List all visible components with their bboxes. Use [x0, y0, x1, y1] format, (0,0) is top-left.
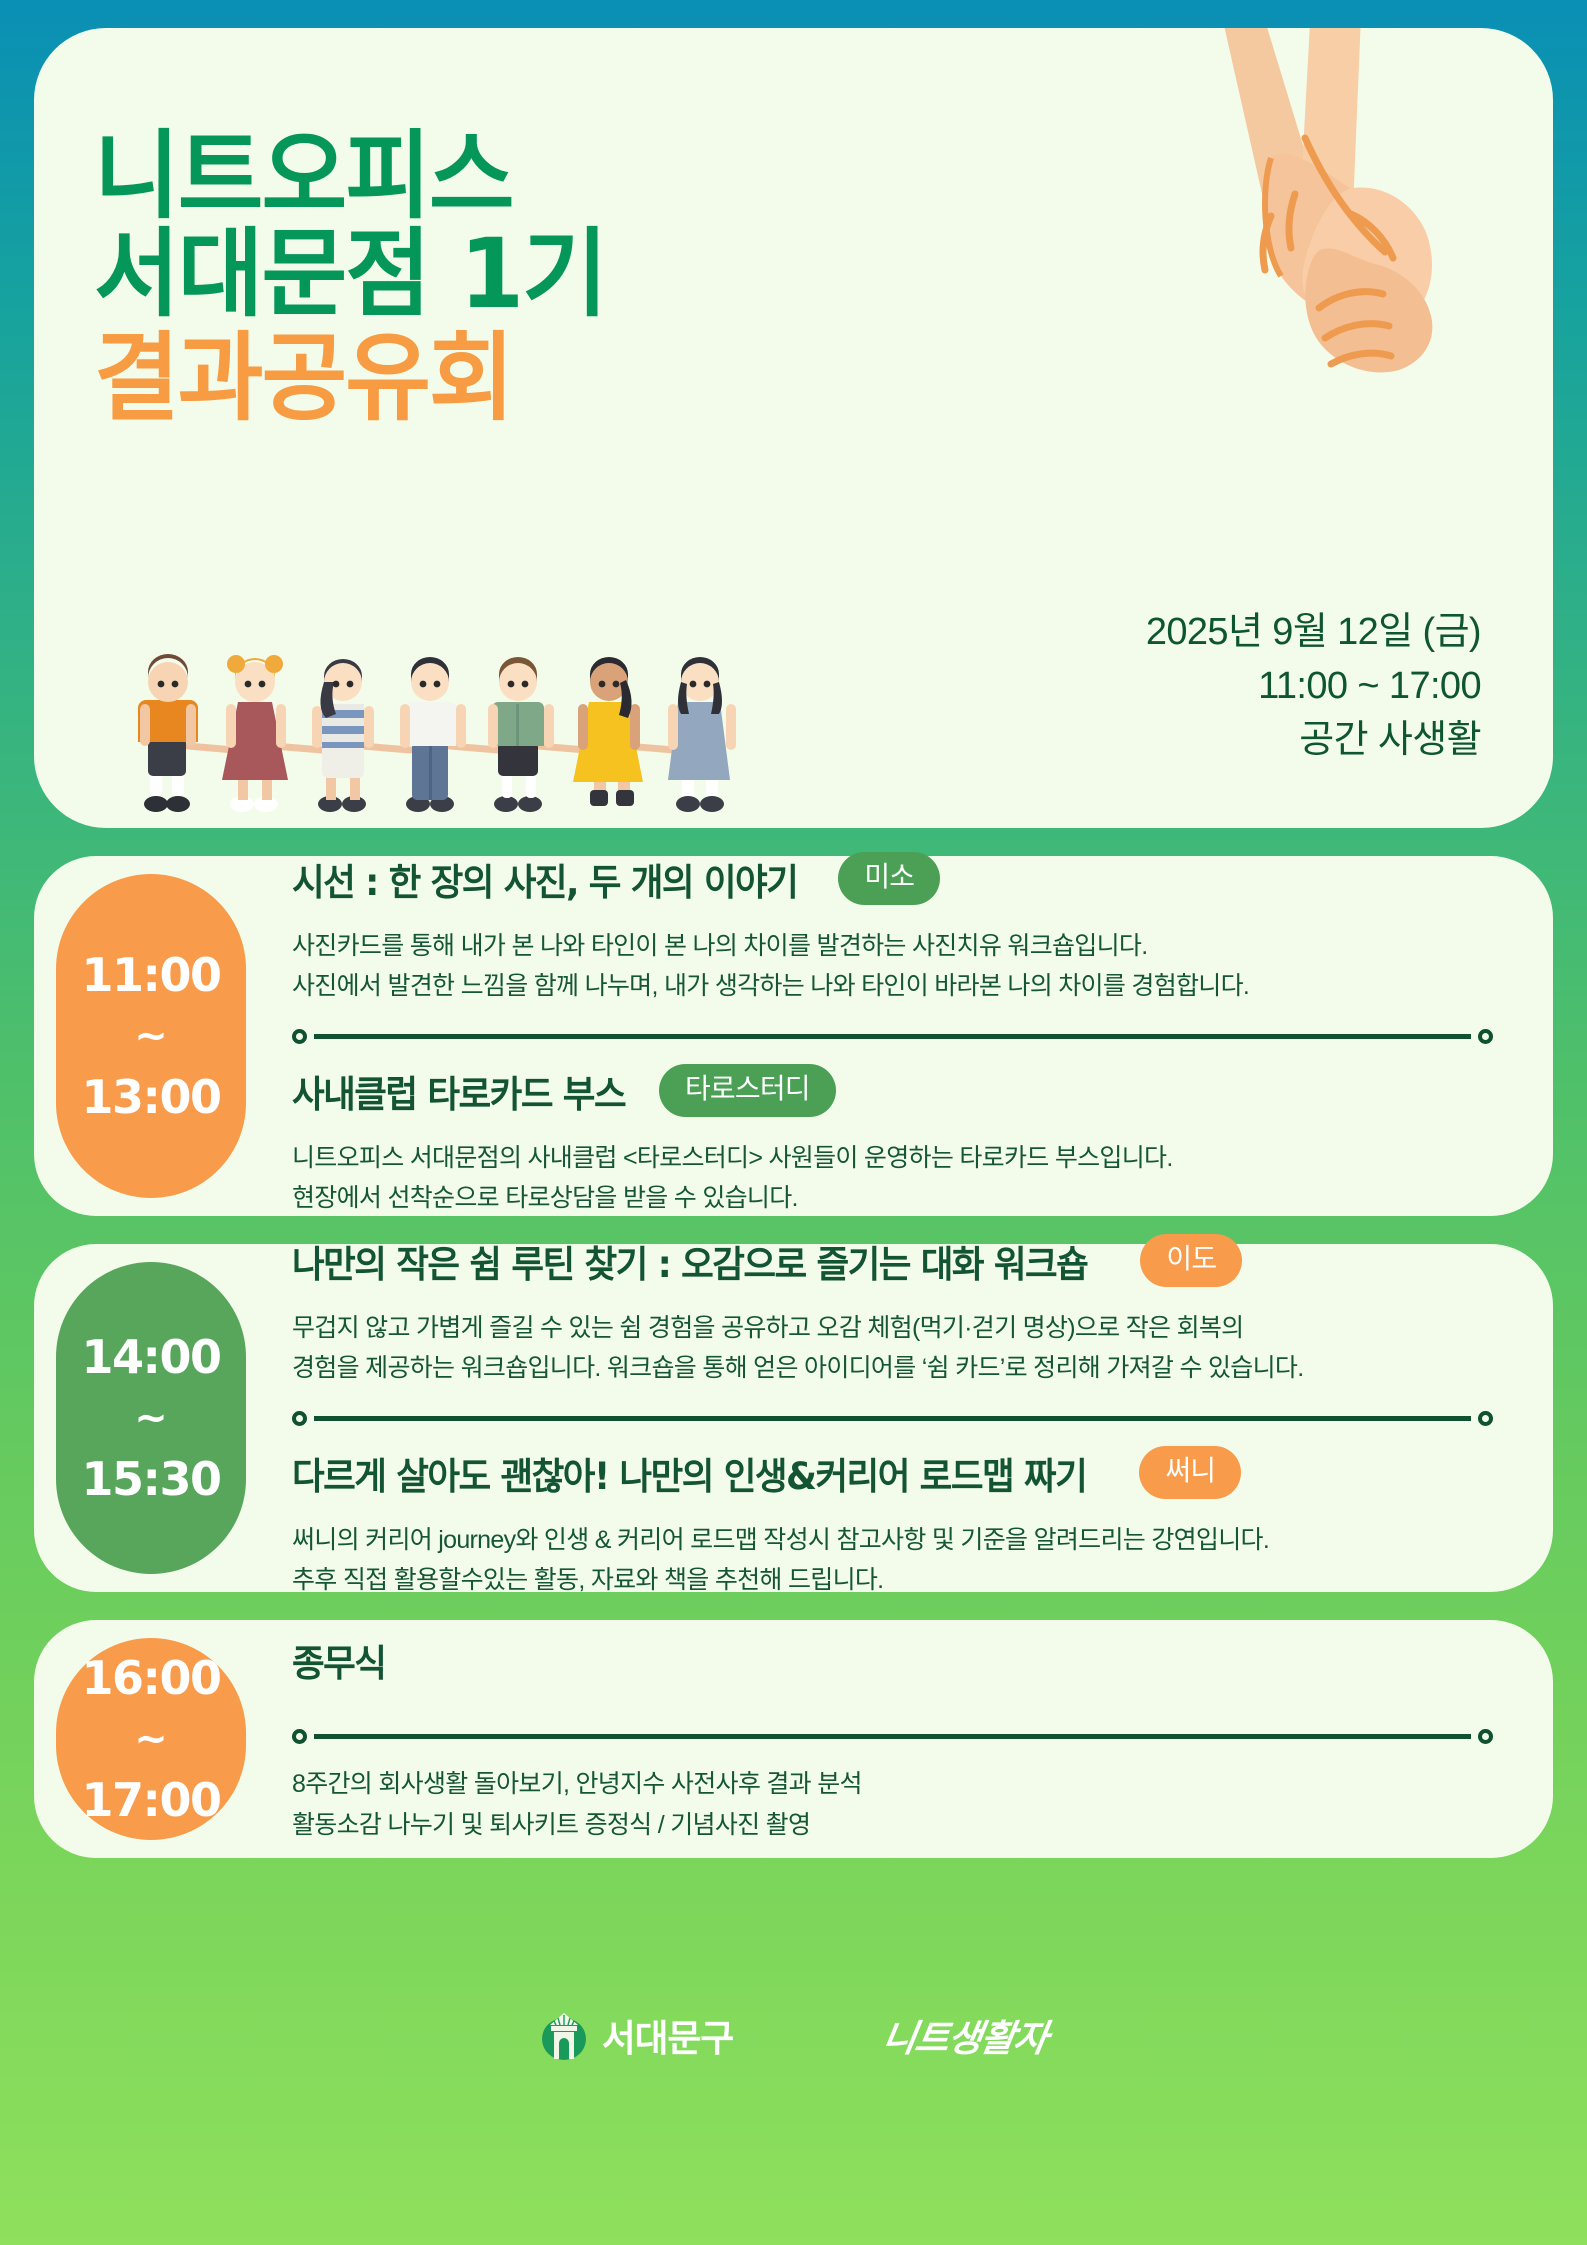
- session-item: 사내클럽 타로카드 부스 타로스터디 니트오피스 서대문점의 사내클럽 <타로스…: [292, 1064, 1493, 1219]
- sessions-1: 시선 : 한 장의 사진, 두 개의 이야기 미소 사진카드를 통해 내가 본 …: [246, 856, 1553, 1216]
- session-desc-line: 무겁지 않고 가볍게 즐길 수 있는 쉼 경험을 공유하고 오감 체험(먹기·걷…: [292, 1308, 1493, 1349]
- session-head: 다르게 살아도 괜찮아! 나만의 인생&커리어 로드맵 짜기 써니: [292, 1446, 1493, 1500]
- time-separator-2: ~: [134, 1398, 168, 1438]
- logo-seodaemun-gu: 서대문구: [540, 2008, 733, 2062]
- divider-bar: [314, 1734, 1471, 1739]
- kid-7: [668, 657, 736, 812]
- logo-neet-company-label: 니트생활자: [879, 2008, 1052, 2062]
- sessions-2: 나만의 작은 쉼 루틴 찾기 : 오감으로 즐기는 대화 워크숍 이도 무겁지 …: [246, 1244, 1553, 1592]
- session-desc: 무겁지 않고 가볍게 즐길 수 있는 쉼 경험을 공유하고 오감 체험(먹기·걷…: [292, 1308, 1493, 1389]
- session-desc-line: 추후 직접 활용할수있는 활동, 자료와 책을 추천해 드립니다.: [292, 1560, 1493, 1601]
- time-pill-1: 11:00 ~ 13:00: [56, 874, 246, 1198]
- time-start-2: 14:00: [82, 1330, 221, 1384]
- time-separator-1: ~: [134, 1016, 168, 1056]
- session-head: 사내클럽 타로카드 부스 타로스터디: [292, 1064, 1493, 1118]
- session-desc: 8주간의 회사생활 돌아보기, 안녕지수 사전사후 결과 분석 활동소감 나누기…: [292, 1764, 1493, 1845]
- session-desc: 니트오피스 서대문점의 사내클럽 <타로스터디> 사원들이 운영하는 타로카드 …: [292, 1138, 1493, 1219]
- time-end-3: 17:00: [82, 1773, 221, 1827]
- session-desc-line: 8주간의 회사생활 돌아보기, 안녕지수 사전사후 결과 분석: [292, 1764, 1493, 1805]
- session-divider: [292, 1729, 1493, 1744]
- logo-seodaemun-gu-label: 서대문구: [602, 2008, 733, 2062]
- time-end-1: 13:00: [82, 1070, 221, 1124]
- divider-bar: [314, 1416, 1471, 1421]
- footer: 서대문구 니트생활자: [34, 1858, 1553, 2245]
- logo-neet-company: 니트생활자: [883, 2008, 1047, 2062]
- divider-bar: [314, 1034, 1471, 1039]
- kid-2: [222, 655, 288, 812]
- divider-dot-left: [292, 1411, 307, 1426]
- session-item: 나만의 작은 쉼 루틴 찾기 : 오감으로 즐기는 대화 워크숍 이도 무겁지 …: [292, 1234, 1493, 1389]
- session-desc-line: 현장에서 선착순으로 타로상담을 받을 수 있습니다.: [292, 1178, 1493, 1219]
- poster-title-block: 니트오피스 서대문점 1기 결과공유회: [94, 128, 622, 428]
- divider-dot-left: [292, 1729, 307, 1744]
- time-pill-2: 14:00 ~ 15:30: [56, 1262, 246, 1574]
- event-date: 2025년 9월 12일 (금): [1146, 606, 1481, 660]
- time-start-1: 11:00: [82, 948, 221, 1002]
- kid-3: [312, 659, 374, 812]
- time-start-3: 16:00: [82, 1651, 221, 1705]
- session-item: 다르게 살아도 괜찮아! 나만의 인생&커리어 로드맵 짜기 써니 써니의 커리…: [292, 1446, 1493, 1601]
- divider-dot-right: [1478, 1029, 1493, 1044]
- time-pill-3: 16:00 ~ 17:00: [56, 1638, 246, 1840]
- kid-1: [138, 654, 198, 812]
- session-item: 종무식: [292, 1633, 1493, 1707]
- children-holding-hands-illustration: [126, 638, 786, 818]
- kid-4: [400, 657, 466, 812]
- title-line-2: 서대문점 1기: [94, 226, 606, 324]
- time-end-2: 15:30: [82, 1452, 221, 1506]
- session-divider: [292, 1411, 1493, 1426]
- schedule-card-3: 16:00 ~ 17:00 종무식 8주간의 회사생활 돌아보기, 안녕지수 사…: [34, 1620, 1553, 1858]
- session-desc-line: 경험을 제공하는 워크숍입니다. 워크숍을 통해 얻은 아이디어를 ‘쉼 카드’…: [292, 1348, 1493, 1389]
- session-title: 종무식: [292, 1633, 385, 1687]
- divider-dot-right: [1478, 1729, 1493, 1744]
- session-title: 시선 : 한 장의 사진, 두 개의 이야기: [292, 852, 797, 906]
- session-desc-line: 사진에서 발견한 느낌을 함께 나누며, 내가 생각하는 나와 타인이 바라본 …: [292, 966, 1493, 1007]
- speaker-badge: 이도: [1140, 1234, 1242, 1287]
- speaker-badge: 미소: [838, 852, 940, 905]
- session-title: 나만의 작은 쉼 루틴 찾기 : 오감으로 즐기는 대화 워크숍: [292, 1234, 1087, 1288]
- schedule-card-1: 11:00 ~ 13:00 시선 : 한 장의 사진, 두 개의 이야기 미소 …: [34, 856, 1553, 1216]
- session-desc-line: 니트오피스 서대문점의 사내클럽 <타로스터디> 사원들이 운영하는 타로카드 …: [292, 1138, 1493, 1179]
- schedule-card-2: 14:00 ~ 15:30 나만의 작은 쉼 루틴 찾기 : 오감으로 즐기는 …: [34, 1244, 1553, 1592]
- time-separator-3: ~: [134, 1719, 168, 1759]
- event-meta: 2025년 9월 12일 (금) 11:00 ~ 17:00 공간 사생활: [1146, 606, 1481, 768]
- session-desc: 사진카드를 통해 내가 본 나와 타인이 본 나의 차이를 발견하는 사진치유 …: [292, 926, 1493, 1007]
- kid-6: [573, 657, 643, 806]
- session-desc-line: 활동소감 나누기 및 퇴사키트 증정식 / 기념사진 촬영: [292, 1805, 1493, 1846]
- poster-root: 니트오피스 서대문점 1기 결과공유회 2025년 9월 12일 (금) 11:…: [0, 0, 1587, 2245]
- session-desc: 써니의 커리어 journey와 인생 & 커리어 로드맵 작성시 참고사항 및…: [292, 1520, 1493, 1601]
- kid-5: [488, 657, 554, 812]
- speaker-badge: 써니: [1139, 1446, 1241, 1499]
- session-head: 시선 : 한 장의 사진, 두 개의 이야기 미소: [292, 852, 1493, 906]
- header-card: 니트오피스 서대문점 1기 결과공유회 2025년 9월 12일 (금) 11:…: [34, 28, 1553, 828]
- title-line-3: 결과공유회: [94, 330, 606, 428]
- title-line-1: 니트오피스: [94, 128, 606, 226]
- session-divider: [292, 1029, 1493, 1044]
- divider-dot-left: [292, 1029, 307, 1044]
- session-title: 사내클럽 타로카드 부스: [292, 1064, 625, 1118]
- session-item: 시선 : 한 장의 사진, 두 개의 이야기 미소 사진카드를 통해 내가 본 …: [292, 852, 1493, 1007]
- session-desc-line: 써니의 커리어 journey와 인생 & 커리어 로드맵 작성시 참고사항 및…: [292, 1520, 1493, 1561]
- divider-dot-right: [1478, 1411, 1493, 1426]
- session-head: 나만의 작은 쉼 루틴 찾기 : 오감으로 즐기는 대화 워크숍 이도: [292, 1234, 1493, 1288]
- event-time: 11:00 ~ 17:00: [1146, 660, 1481, 714]
- sessions-3: 종무식 8주간의 회사생활 돌아보기, 안녕지수 사전사후 결과 분석 활동소감…: [246, 1620, 1553, 1858]
- session-desc-line: 사진카드를 통해 내가 본 나와 타인이 본 나의 차이를 발견하는 사진치유 …: [292, 926, 1493, 967]
- event-venue: 공간 사생활: [1146, 714, 1481, 768]
- session-head: 종무식: [292, 1633, 1493, 1687]
- speaker-badge: 타로스터디: [659, 1064, 836, 1117]
- holding-hands-illustration: [1013, 28, 1483, 488]
- seodaemun-gu-emblem-icon: [540, 2009, 588, 2061]
- session-title: 다르게 살아도 괜찮아! 나만의 인생&커리어 로드맵 짜기: [292, 1446, 1086, 1500]
